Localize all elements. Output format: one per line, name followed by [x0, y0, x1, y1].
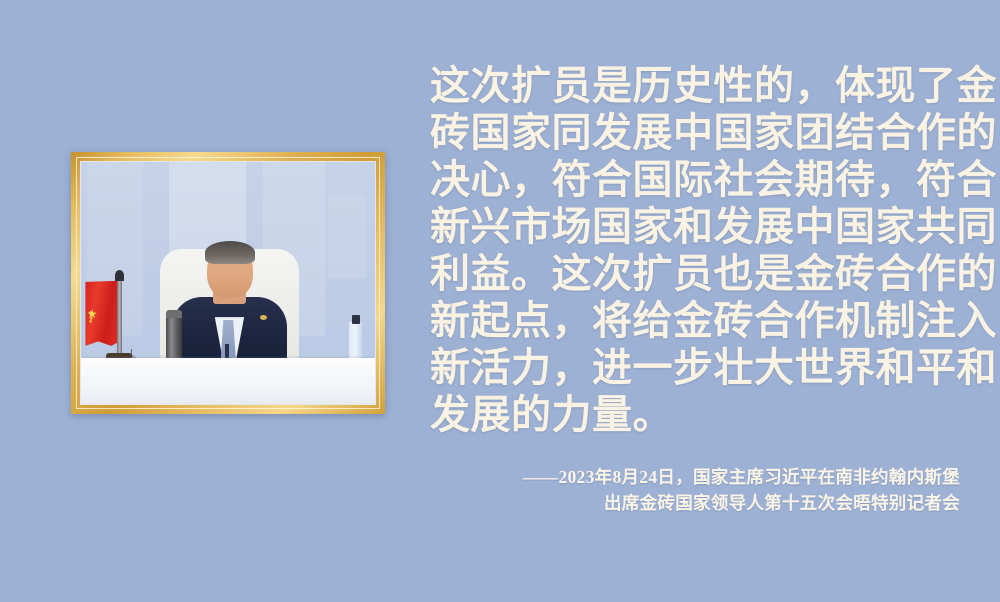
desk-surface [81, 358, 375, 404]
quote-poster: ★ ★ ★ ★ ★ 这次扩员是历史性的，体现了金 砖国家同发展中国家团结合作 [0, 0, 1000, 602]
thermos-lid [166, 310, 182, 318]
water-bottle [349, 322, 361, 363]
water-bottle-cap [352, 315, 360, 324]
flag-star-small: ★ [88, 320, 92, 325]
attribution: ——2023年8月24日，国家主席习近平在南非约翰内斯堡 出席金砖国家领导人第十… [360, 464, 960, 516]
quote-line: 新活力，进一步壮大世界和平和 [430, 344, 964, 391]
quote-line: 砖国家同发展中国家团结合作的 [430, 109, 964, 156]
china-flag-icon: ★ ★ ★ ★ ★ [85, 281, 121, 346]
quote-line: 新兴市场国家和发展中国家共同 [430, 203, 964, 250]
photo-image: ★ ★ ★ ★ ★ [80, 161, 376, 405]
flag-pole [117, 278, 121, 358]
thermos-cup [166, 314, 182, 362]
quote-line: 利益。这次扩员也是金砖合作的 [430, 250, 964, 297]
speaker-figure [81, 225, 375, 361]
flag-finial [115, 270, 124, 281]
photo-scene: ★ ★ ★ ★ ★ [81, 162, 375, 404]
quote-line: 新起点，将给金砖合作机制注入 [430, 297, 964, 344]
attribution-line-source: ——2023年8月24日，国家主席习近平在南非约翰内斯堡 [360, 464, 960, 490]
quote-text: 这次扩员是历史性的，体现了金 砖国家同发展中国家团结合作的 决心，符合国际社会期… [430, 62, 964, 438]
attribution-line-event: 出席金砖国家领导人第十五次会晤特别记者会 [360, 490, 960, 516]
quote-line: 这次扩员是历史性的，体现了金 [430, 62, 964, 109]
hair [205, 241, 255, 264]
quote-line: 发展的力量。 [430, 391, 964, 438]
photo-frame: ★ ★ ★ ★ ★ [71, 152, 385, 414]
quote-line: 决心，符合国际社会期待，符合 [430, 156, 964, 203]
